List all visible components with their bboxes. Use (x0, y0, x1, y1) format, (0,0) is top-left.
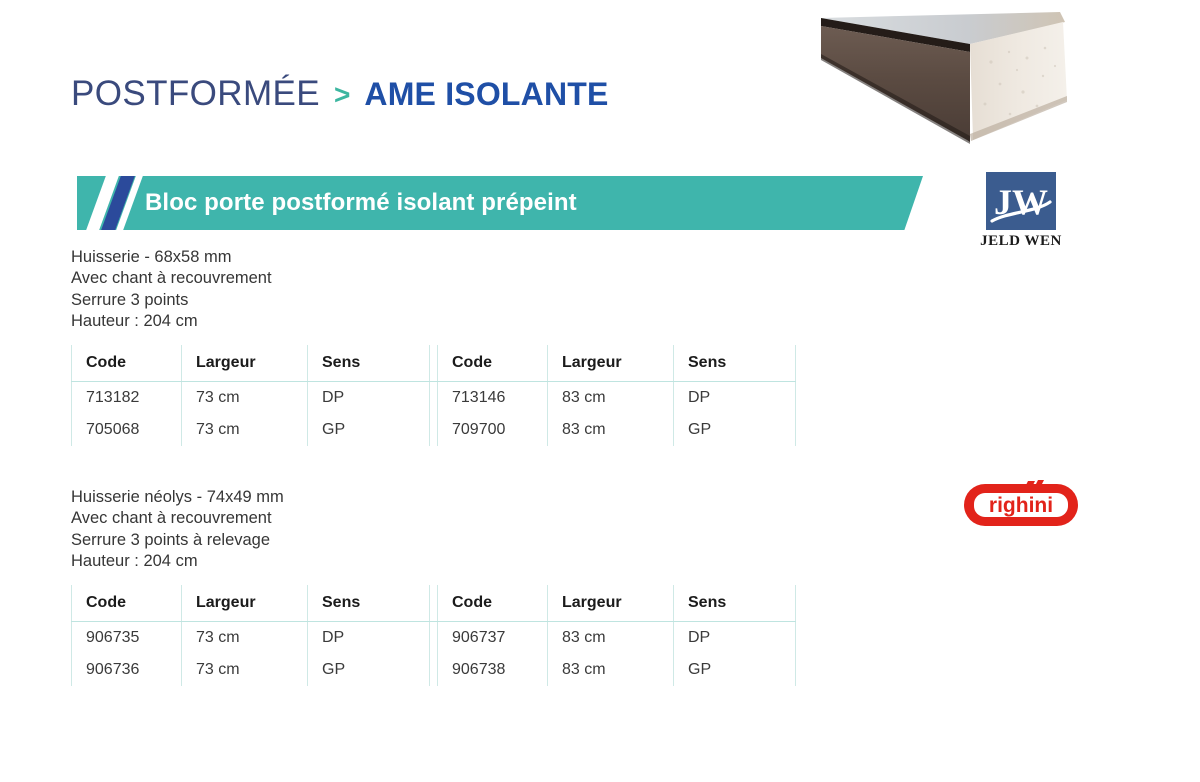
table-column-gap (430, 345, 438, 382)
cell-code: 906736 (72, 654, 182, 686)
table-column-gap (430, 585, 438, 622)
cell-code: 906735 (72, 622, 182, 655)
spec-list-1: Huisserie - 68x58 mm Avec chant à recouv… (71, 247, 272, 333)
cell-code: 906738 (438, 654, 548, 686)
table-row: 705068 73 cm GP 709700 83 cm GP (72, 414, 796, 446)
table-column-gap (430, 654, 438, 686)
spec-line: Avec chant à recouvrement (71, 268, 272, 289)
cell-largeur: 73 cm (182, 414, 308, 446)
cell-largeur: 73 cm (182, 622, 308, 655)
column-header-sens-right: Sens (674, 345, 796, 382)
table-row: 906735 73 cm DP 906737 83 cm DP (72, 622, 796, 655)
cell-sens: GP (308, 654, 430, 686)
table-header-row: Code Largeur Sens Code Largeur Sens (72, 585, 796, 622)
cell-sens: GP (308, 414, 430, 446)
column-header-code-left: Code (72, 585, 182, 622)
cell-largeur: 83 cm (548, 414, 674, 446)
section-banner: Bloc porte postformé isolant prépeint (77, 176, 923, 230)
code-table-1: Code Largeur Sens Code Largeur Sens 7131… (71, 345, 784, 446)
cell-largeur: 83 cm (548, 622, 674, 655)
column-header-code-right: Code (438, 585, 548, 622)
column-header-code-right: Code (438, 345, 548, 382)
cell-code: 713182 (72, 382, 182, 415)
spec-line: Avec chant à recouvrement (71, 508, 284, 529)
column-header-largeur-right: Largeur (548, 585, 674, 622)
cell-code: 705068 (72, 414, 182, 446)
cell-code: 709700 (438, 414, 548, 446)
table-column-gap (430, 622, 438, 655)
cell-largeur: 73 cm (182, 382, 308, 415)
spec-line: Hauteur : 204 cm (71, 551, 284, 572)
svg-text:JELD WEN: JELD WEN (980, 233, 1062, 249)
column-header-sens-left: Sens (308, 585, 430, 622)
table-column-gap (430, 414, 438, 446)
breadcrumb-current: AME ISOLANTE (364, 76, 608, 113)
breadcrumb-parent: POSTFORMÉE (71, 74, 320, 114)
column-header-sens-left: Sens (308, 345, 430, 382)
page-title: POSTFORMÉE > AME ISOLANTE (71, 74, 609, 114)
breadcrumb-separator-icon: > (334, 79, 350, 111)
column-header-largeur-left: Largeur (182, 585, 308, 622)
code-table-2: Code Largeur Sens Code Largeur Sens 9067… (71, 585, 784, 686)
spec-list-2: Huisserie néolys - 74x49 mm Avec chant à… (71, 487, 284, 573)
righini-logo: righini (962, 478, 1080, 530)
cell-sens: GP (674, 414, 796, 446)
cell-largeur: 73 cm (182, 654, 308, 686)
catalog-page: POSTFORMÉE > AME ISOLANTE Bloc porte pos… (0, 0, 1200, 782)
table-header-row: Code Largeur Sens Code Largeur Sens (72, 345, 796, 382)
cell-sens: DP (674, 622, 796, 655)
spec-line: Huisserie - 68x58 mm (71, 247, 272, 268)
cell-sens: DP (308, 622, 430, 655)
column-header-largeur-right: Largeur (548, 345, 674, 382)
spec-line: Serrure 3 points à relevage (71, 530, 284, 551)
spec-line: Serrure 3 points (71, 290, 272, 311)
table-column-gap (430, 382, 438, 415)
table-row: 713182 73 cm DP 713146 83 cm DP (72, 382, 796, 415)
table-row: 906736 73 cm GP 906738 83 cm GP (72, 654, 796, 686)
cell-sens: DP (308, 382, 430, 415)
cell-sens: GP (674, 654, 796, 686)
svg-text:righini: righini (989, 494, 1053, 517)
spec-line: Huisserie néolys - 74x49 mm (71, 487, 284, 508)
cell-code: 906737 (438, 622, 548, 655)
banner-title: Bloc porte postformé isolant prépeint (145, 176, 577, 230)
cell-code: 713146 (438, 382, 548, 415)
cell-sens: DP (674, 382, 796, 415)
spec-line: Hauteur : 204 cm (71, 311, 272, 332)
product-panel-image (795, 0, 1145, 162)
column-header-code-left: Code (72, 345, 182, 382)
cell-largeur: 83 cm (548, 654, 674, 686)
column-header-largeur-left: Largeur (182, 345, 308, 382)
column-header-sens-right: Sens (674, 585, 796, 622)
jeld-wen-logo: JW JELD WEN (978, 172, 1064, 250)
cell-largeur: 83 cm (548, 382, 674, 415)
